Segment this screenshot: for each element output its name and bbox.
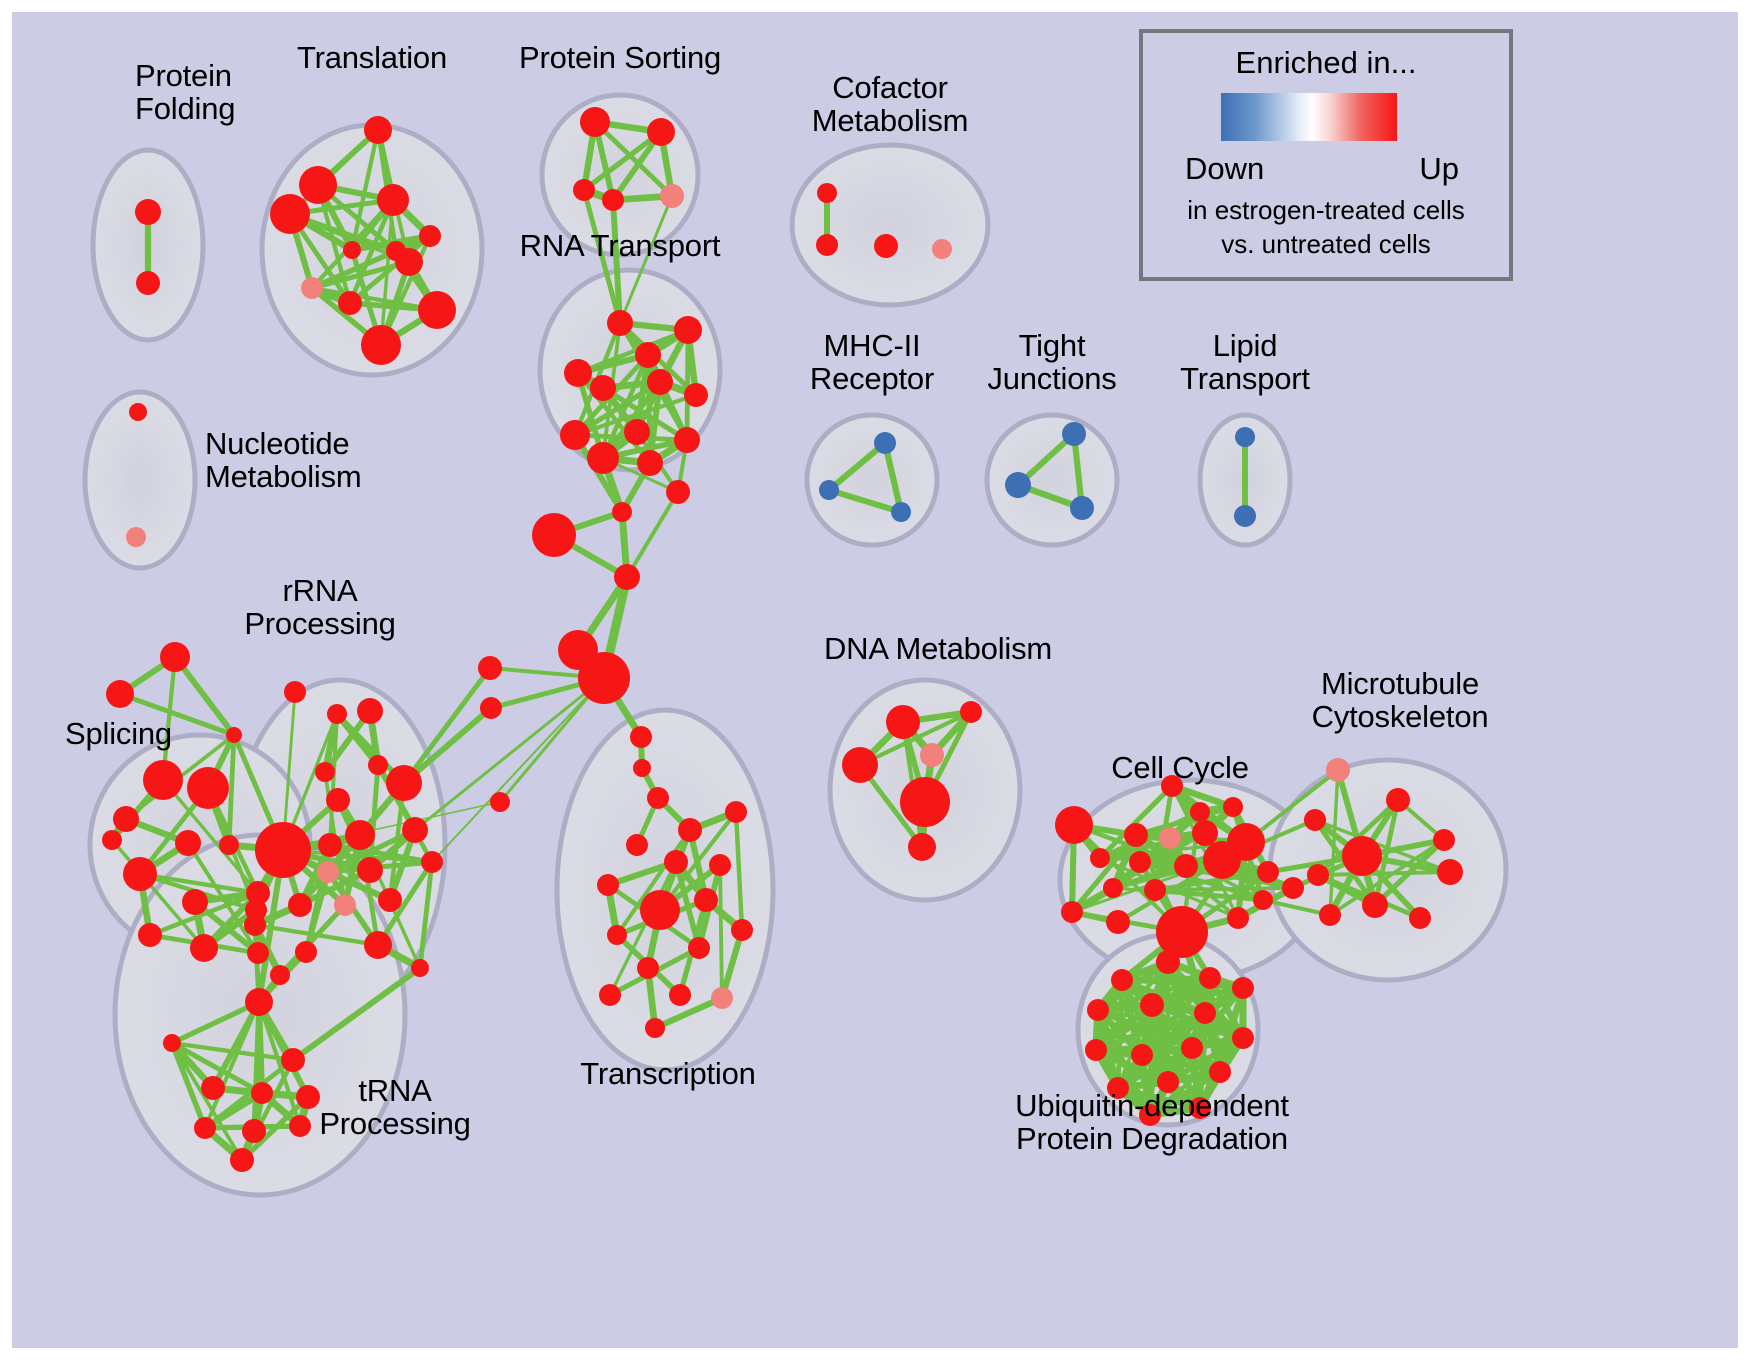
network-node[interactable]	[318, 833, 342, 857]
network-node[interactable]	[163, 1034, 181, 1052]
legend-colorbar	[1221, 93, 1397, 141]
network-node[interactable]	[1055, 806, 1093, 844]
network-node[interactable]	[1085, 1039, 1107, 1061]
network-node[interactable]	[645, 1018, 665, 1038]
cluster-label-rna-transport: RNA Transport	[520, 230, 721, 263]
network-node[interactable]	[891, 502, 911, 522]
cluster-label-rrna-processing: rRNA Processing	[244, 575, 395, 641]
network-node[interactable]	[1362, 892, 1388, 918]
cluster-label-trna-processing: tRNA Processing	[319, 1075, 470, 1141]
network-node[interactable]	[1005, 472, 1031, 498]
network-node[interactable]	[1227, 907, 1249, 929]
network-node[interactable]	[368, 755, 388, 775]
network-node[interactable]	[580, 107, 610, 137]
network-edge	[1155, 888, 1293, 890]
network-node[interactable]	[674, 427, 700, 453]
network-node[interactable]	[1129, 851, 1151, 873]
network-node[interactable]	[664, 850, 688, 874]
cluster-label-protein-folding: Protein Folding	[135, 60, 235, 126]
network-node[interactable]	[106, 680, 134, 708]
network-node[interactable]	[1144, 879, 1166, 901]
cluster-label-nucleotide-metabolism: Nucleotide Metabolism	[205, 428, 362, 494]
network-node[interactable]	[1140, 993, 1164, 1017]
network-node[interactable]	[614, 564, 640, 590]
network-node[interactable]	[334, 894, 356, 916]
network-node[interactable]	[364, 931, 392, 959]
network-node[interactable]	[1307, 864, 1329, 886]
cluster-label-mhc-ii-receptor: MHC-II Receptor	[810, 330, 934, 396]
cluster-label-dna-metabolism: DNA Metabolism	[824, 633, 1052, 666]
network-node[interactable]	[1304, 809, 1326, 831]
network-edge	[627, 492, 678, 577]
cluster-label-transcription: Transcription	[580, 1058, 755, 1091]
network-node[interactable]	[637, 957, 659, 979]
network-node[interactable]	[296, 1085, 320, 1109]
network-node[interactable]	[419, 225, 441, 247]
network-node[interactable]	[357, 698, 383, 724]
network-node[interactable]	[244, 914, 266, 936]
network-node[interactable]	[1326, 758, 1350, 782]
network-node[interactable]	[666, 480, 690, 504]
network-node[interactable]	[1199, 967, 1221, 989]
network-node[interactable]	[1061, 901, 1083, 923]
network-node[interactable]	[694, 888, 718, 912]
network-node[interactable]	[1159, 827, 1181, 849]
network-node[interactable]	[932, 239, 952, 259]
network-node[interactable]	[480, 697, 502, 719]
network-node[interactable]	[688, 937, 710, 959]
network-node[interactable]	[816, 234, 838, 256]
network-node[interactable]	[490, 792, 510, 812]
network-node[interactable]	[1223, 797, 1243, 817]
network-node[interactable]	[345, 820, 375, 850]
network-node[interactable]	[817, 183, 837, 203]
network-node[interactable]	[564, 359, 592, 387]
network-node[interactable]	[612, 502, 632, 522]
network-node[interactable]	[411, 959, 429, 977]
network-node[interactable]	[660, 184, 684, 208]
network-node[interactable]	[886, 705, 920, 739]
network-node[interactable]	[182, 889, 208, 915]
network-node[interactable]	[478, 656, 502, 680]
network-node[interactable]	[1156, 950, 1180, 974]
network-node[interactable]	[1234, 505, 1256, 527]
network-node[interactable]	[590, 375, 616, 401]
network-node[interactable]	[1409, 907, 1431, 929]
network-node[interactable]	[327, 704, 347, 724]
network-node[interactable]	[1106, 910, 1130, 934]
network-node[interactable]	[136, 271, 160, 295]
network-node[interactable]	[1192, 820, 1218, 846]
network-node[interactable]	[301, 277, 323, 299]
network-node[interactable]	[602, 189, 624, 211]
network-edge	[720, 865, 722, 998]
network-node[interactable]	[289, 1115, 311, 1137]
network-node[interactable]	[607, 310, 633, 336]
network-node[interactable]	[633, 759, 651, 777]
network-node[interactable]	[908, 833, 936, 861]
network-node[interactable]	[819, 480, 839, 500]
network-node[interactable]	[284, 681, 306, 703]
network-node[interactable]	[378, 888, 402, 912]
network-node[interactable]	[532, 513, 576, 557]
network-node[interactable]	[281, 1048, 305, 1072]
network-node[interactable]	[143, 760, 183, 800]
network-node[interactable]	[1282, 877, 1304, 899]
network-edge	[404, 668, 490, 783]
network-node[interactable]	[364, 116, 392, 144]
cluster-label-microtubule-cytoskeleton: Microtubule Cytoskeleton	[1312, 668, 1489, 734]
network-node[interactable]	[874, 432, 896, 454]
network-node[interactable]	[377, 184, 409, 216]
network-node[interactable]	[230, 1148, 254, 1172]
network-node[interactable]	[731, 919, 753, 941]
network-node[interactable]	[874, 234, 898, 258]
network-node[interactable]	[1319, 904, 1341, 926]
network-node[interactable]	[842, 747, 878, 783]
cluster-label-splicing: Splicing	[65, 718, 172, 751]
network-node[interactable]	[1232, 977, 1254, 999]
network-node[interactable]	[317, 861, 339, 883]
network-node[interactable]	[578, 652, 630, 704]
network-node[interactable]	[251, 1082, 273, 1104]
network-node[interactable]	[1209, 1061, 1231, 1083]
network-node[interactable]	[245, 988, 273, 1016]
network-node[interactable]	[343, 241, 361, 259]
network-node[interactable]	[1181, 1037, 1203, 1059]
network-node[interactable]	[126, 527, 146, 547]
network-node[interactable]	[138, 923, 162, 947]
network-node[interactable]	[647, 787, 669, 809]
cluster-label-protein-sorting: Protein Sorting	[519, 42, 721, 75]
network-node[interactable]	[674, 316, 702, 344]
network-node[interactable]	[1111, 969, 1133, 991]
network-node[interactable]	[255, 822, 311, 878]
network-node[interactable]	[1090, 848, 1110, 868]
network-node[interactable]	[1386, 788, 1410, 812]
network-node[interactable]	[635, 342, 661, 368]
network-node[interactable]	[725, 801, 747, 823]
cluster-label-translation: Translation	[297, 42, 447, 75]
network-node[interactable]	[295, 941, 317, 963]
network-node[interactable]	[226, 727, 242, 743]
network-node[interactable]	[361, 325, 401, 365]
cluster-label-ubiquitin-degradation: Ubiquitin-dependent Protein Degradation	[1015, 1090, 1289, 1156]
network-node[interactable]	[1124, 823, 1148, 847]
cluster-label-tight-junctions: Tight Junctions	[987, 330, 1116, 396]
cluster-halo-mhc-ii-receptor	[807, 415, 937, 545]
network-node[interactable]	[960, 701, 982, 723]
network-node[interactable]	[270, 194, 310, 234]
network-node[interactable]	[1156, 906, 1208, 958]
figure-canvas: Protein FoldingTranslationProtein Sortin…	[0, 0, 1750, 1360]
network-node[interactable]	[1257, 861, 1279, 883]
network-node[interactable]	[123, 857, 157, 891]
network-node[interactable]	[1203, 841, 1241, 879]
network-node[interactable]	[1194, 1002, 1216, 1024]
network-node[interactable]	[395, 248, 423, 276]
network-node[interactable]	[607, 925, 627, 945]
network-node[interactable]	[684, 383, 708, 407]
network-node[interactable]	[669, 984, 691, 1006]
network-node[interactable]	[270, 965, 290, 985]
network-node[interactable]	[587, 442, 619, 474]
network-node[interactable]	[1232, 1027, 1254, 1049]
network-node[interactable]	[201, 1076, 225, 1100]
network-node[interactable]	[647, 369, 673, 395]
network-node[interactable]	[1235, 427, 1255, 447]
network-node[interactable]	[418, 291, 456, 329]
cluster-label-cell-cycle: Cell Cycle	[1111, 752, 1249, 785]
network-node[interactable]	[1070, 496, 1094, 520]
network-node[interactable]	[1190, 802, 1210, 822]
network-node[interactable]	[624, 419, 650, 445]
network-node[interactable]	[637, 450, 663, 476]
network-node[interactable]	[900, 777, 950, 827]
network-node[interactable]	[711, 987, 733, 1009]
legend-title: Enriched in...	[1143, 45, 1509, 81]
legend-subtitle-line-1: in estrogen-treated cells	[1143, 195, 1509, 226]
network-node[interactable]	[402, 817, 428, 843]
network-node[interactable]	[102, 830, 122, 850]
network-node[interactable]	[647, 118, 675, 146]
network-node[interactable]	[421, 851, 443, 873]
cluster-halo-cofactor-metabolism	[792, 145, 988, 305]
network-node[interactable]	[338, 291, 362, 315]
network-node[interactable]	[129, 403, 147, 421]
legend-box: Enriched in... Down Up in estrogen-treat…	[1139, 29, 1513, 281]
network-node[interactable]	[357, 857, 383, 883]
network-node[interactable]	[560, 420, 590, 450]
network-node[interactable]	[597, 874, 619, 896]
cluster-label-cofactor-metabolism: Cofactor Metabolism	[812, 72, 969, 138]
network-node[interactable]	[920, 743, 944, 767]
network-node[interactable]	[288, 893, 312, 917]
network-node[interactable]	[626, 834, 648, 856]
network-node[interactable]	[1174, 854, 1198, 878]
network-node[interactable]	[190, 934, 218, 962]
network-node[interactable]	[194, 1117, 216, 1139]
network-node[interactable]	[1253, 890, 1273, 910]
network-node[interactable]	[1433, 829, 1455, 851]
network-node[interactable]	[640, 890, 680, 930]
network-node[interactable]	[187, 767, 229, 809]
network-node[interactable]	[573, 179, 595, 201]
cluster-label-lipid-transport: Lipid Transport	[1180, 330, 1310, 396]
network-node[interactable]	[599, 984, 621, 1006]
network-node[interactable]	[1103, 878, 1123, 898]
network-node[interactable]	[386, 765, 422, 801]
network-node[interactable]	[299, 166, 337, 204]
network-node[interactable]	[709, 854, 731, 876]
legend-subtitle-line-2: vs. untreated cells	[1143, 229, 1509, 260]
network-node[interactable]	[326, 788, 350, 812]
legend-high-label: Up	[1419, 151, 1459, 187]
network-node[interactable]	[1062, 422, 1086, 446]
network-node[interactable]	[630, 726, 652, 748]
network-node[interactable]	[1342, 836, 1382, 876]
legend-low-label: Down	[1185, 151, 1264, 187]
network-node[interactable]	[1131, 1044, 1153, 1066]
network-node[interactable]	[1437, 859, 1463, 885]
network-edge	[687, 330, 688, 440]
network-node[interactable]	[242, 1119, 266, 1143]
network-node[interactable]	[1087, 999, 1109, 1021]
network-node[interactable]	[175, 830, 201, 856]
network-node[interactable]	[113, 806, 139, 832]
network-node[interactable]	[160, 642, 190, 672]
network-node[interactable]	[135, 199, 161, 225]
network-node[interactable]	[678, 818, 702, 842]
network-node[interactable]	[219, 835, 239, 855]
network-node[interactable]	[315, 762, 335, 782]
network-node[interactable]	[247, 942, 269, 964]
